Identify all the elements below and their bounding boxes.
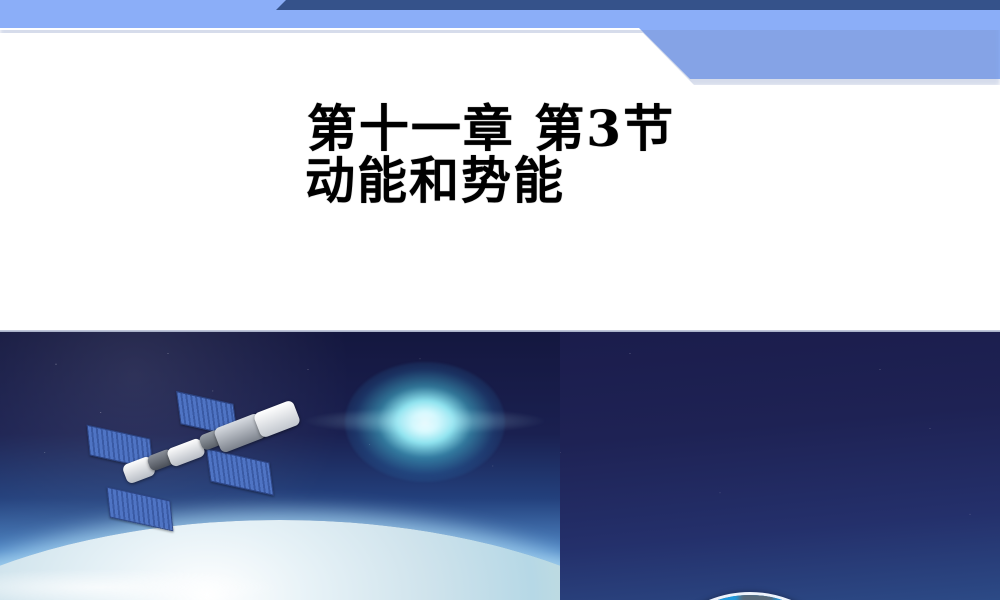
- slide-canvas: 第十一章 第3节 动能和势能: [0, 0, 1000, 600]
- volcano-ash-plume: [735, 592, 776, 600]
- solar-panel-lower-left: [107, 487, 174, 532]
- title-line-1: 第十一章 第3节: [0, 103, 1000, 155]
- module-forward: [253, 399, 302, 438]
- solar-panel-lower-right: [206, 448, 274, 495]
- space-station-model: [60, 404, 360, 579]
- bright-star-glow: [345, 362, 505, 482]
- photo-montage: [0, 332, 1000, 600]
- title-line-2: 动能和势能: [0, 155, 1000, 207]
- image-space-station: [0, 332, 560, 600]
- slide-title: 第十一章 第3节 动能和势能: [0, 103, 1000, 207]
